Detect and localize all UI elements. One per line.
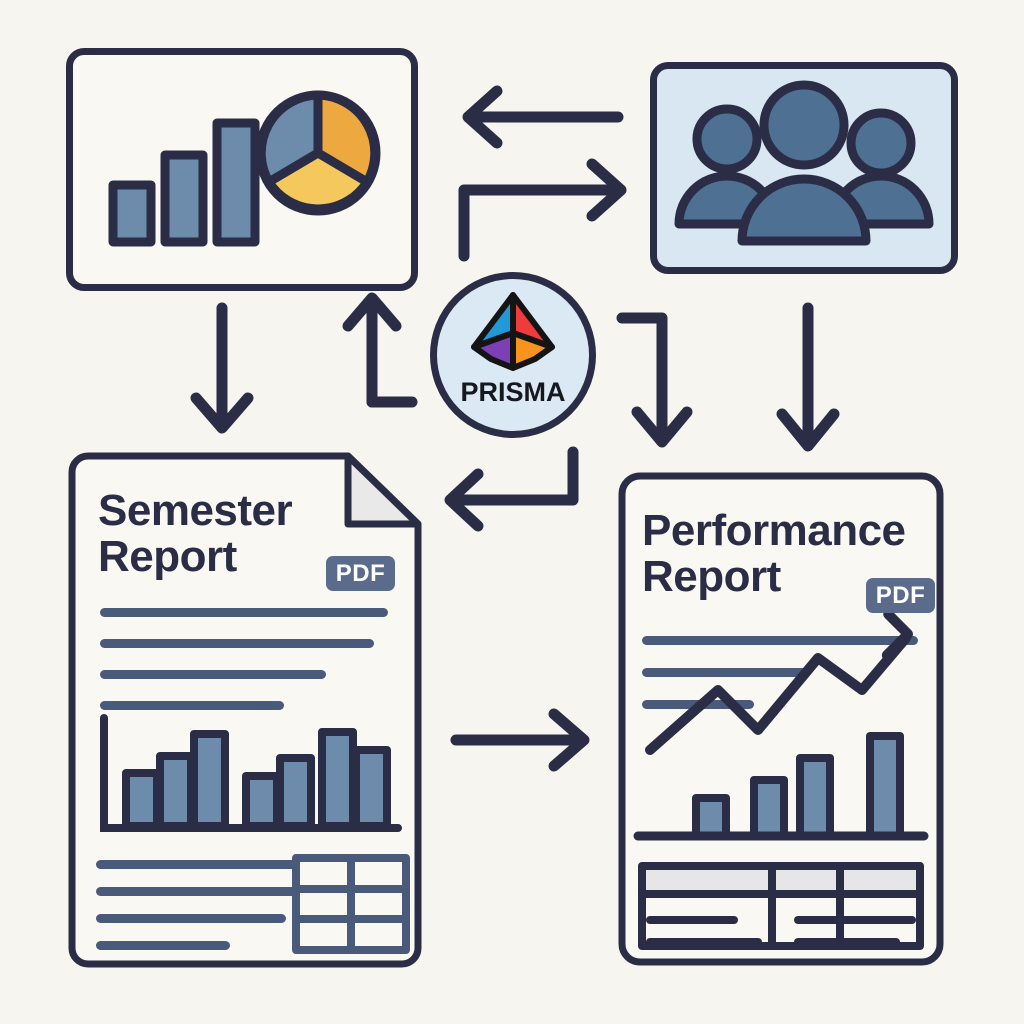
arrow-analytics-to-semester [196, 308, 248, 428]
arrow-prisma-to-performance [622, 318, 687, 442]
arrow-prisma-to-analytics [348, 298, 412, 402]
diagram-canvas: PRISMA [0, 0, 1024, 1024]
arrow-connectors-layer [0, 0, 1024, 1024]
arrow-prisma-to-semester [450, 452, 573, 526]
arrow-users-to-performance [782, 308, 834, 446]
arrow-users-to-analytics [468, 91, 618, 143]
arrow-prisma-to-users [464, 164, 621, 256]
arrow-semester-to-performance [456, 714, 584, 766]
